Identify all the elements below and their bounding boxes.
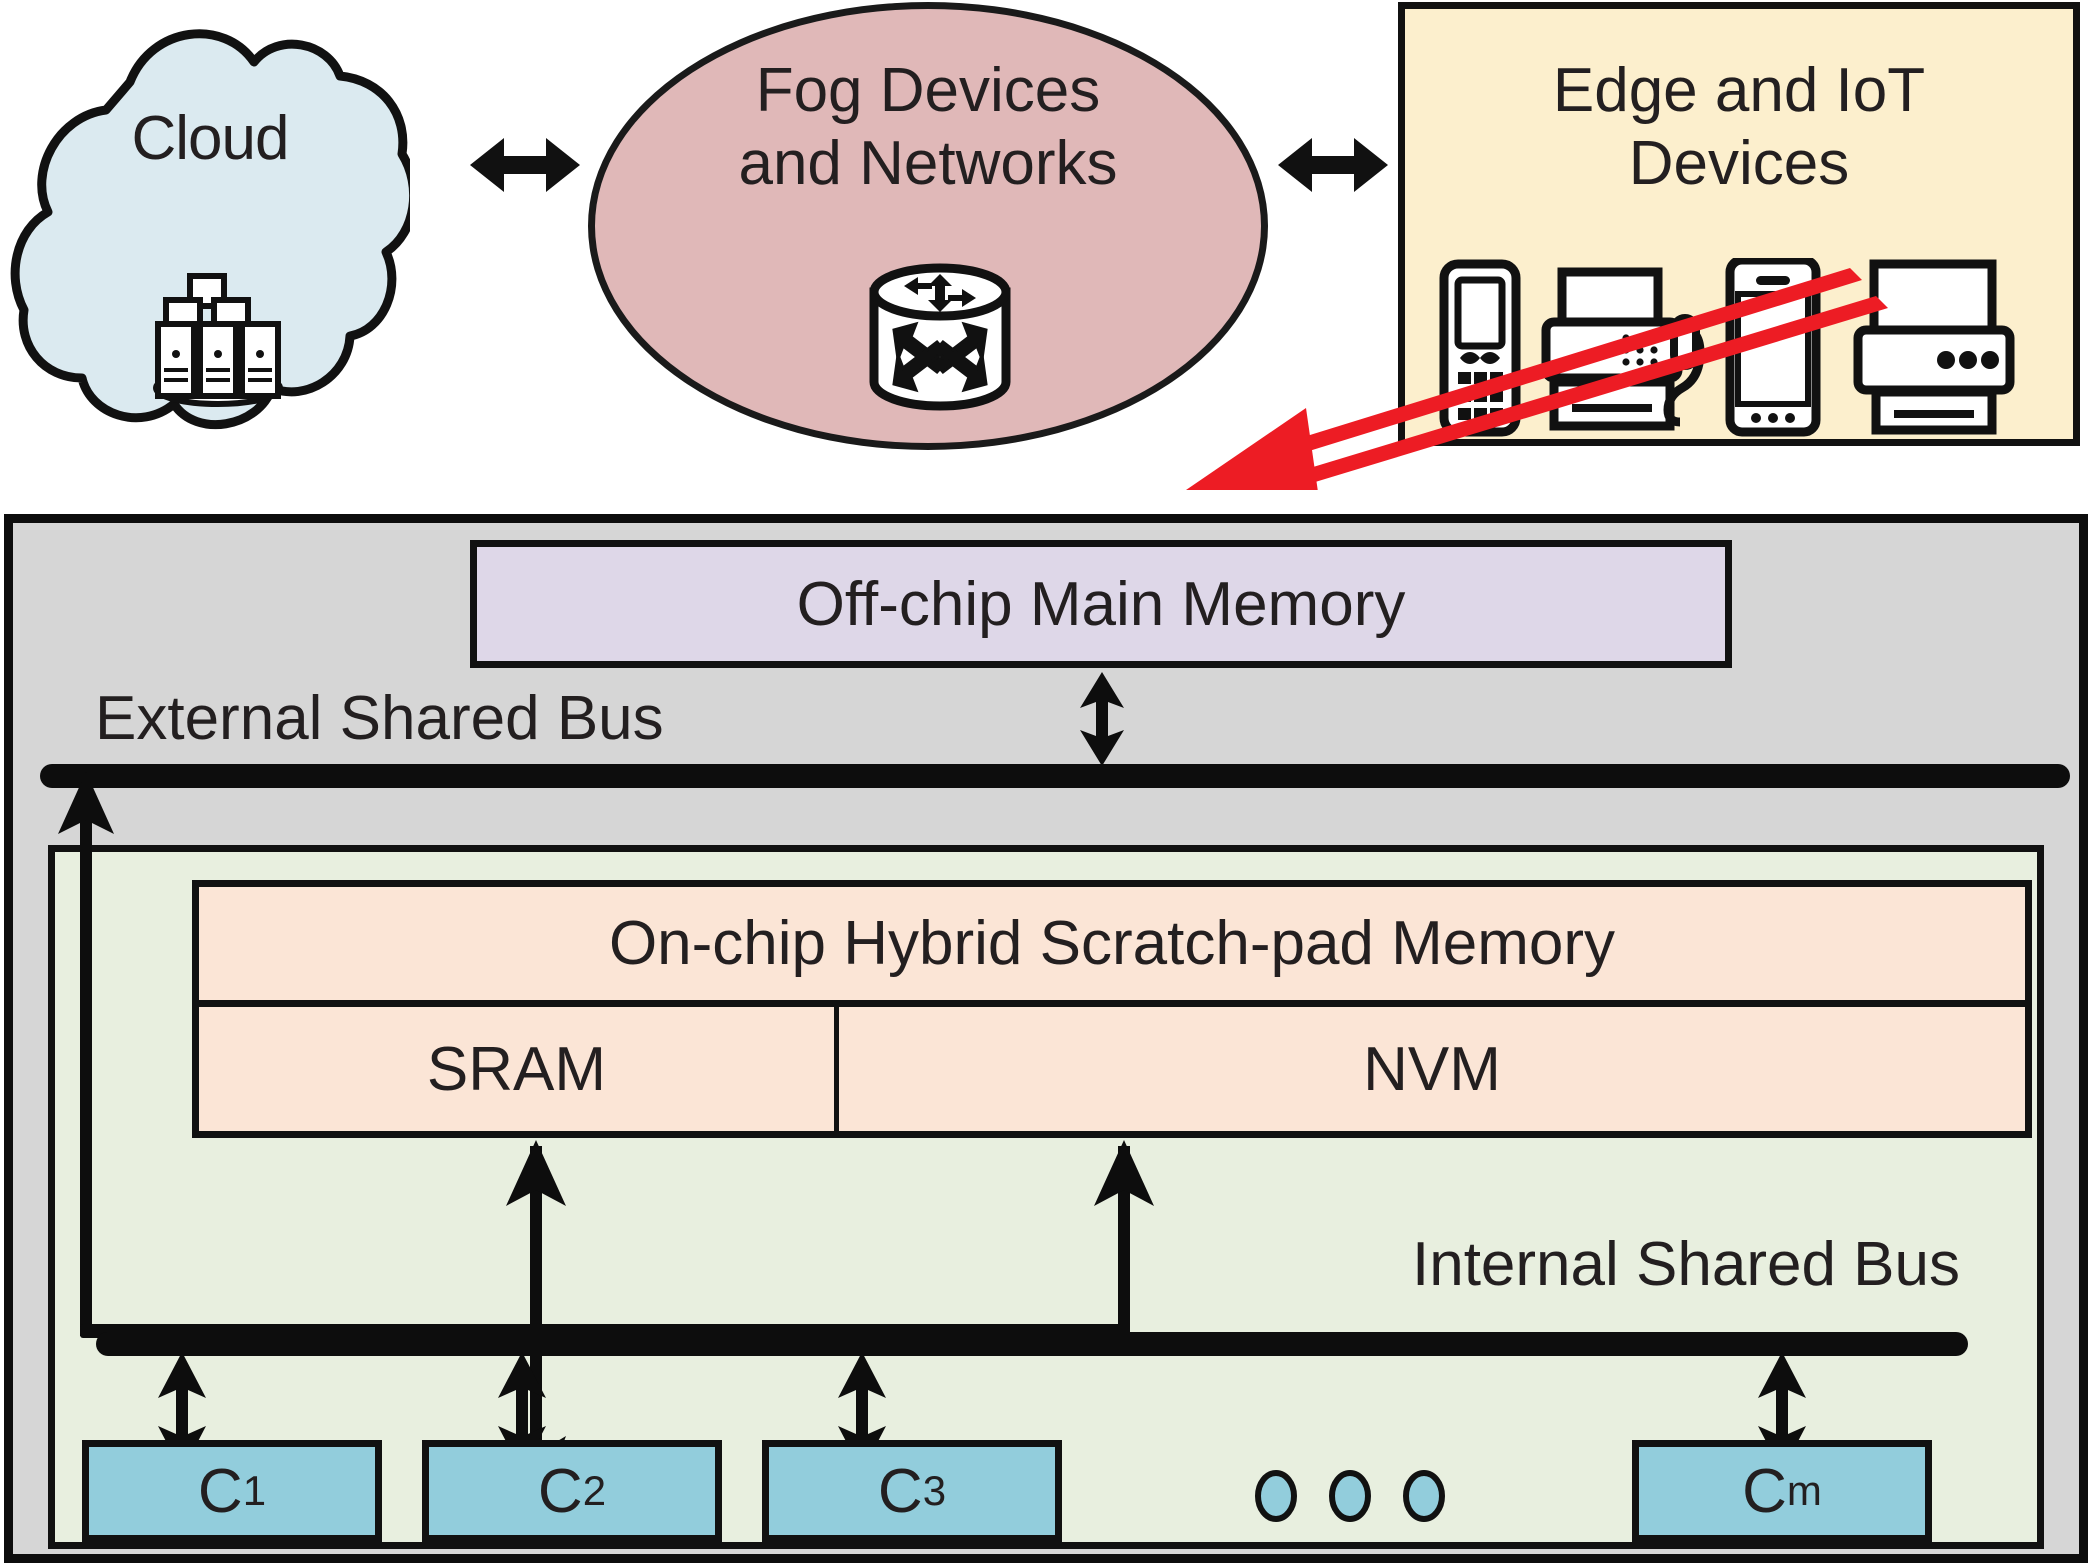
core-index: 3	[923, 1467, 946, 1515]
scratchpad-cells: SRAM NVM	[199, 1007, 2025, 1131]
double-headed-arrow-icon	[470, 130, 580, 200]
fax-machine-icon	[1546, 272, 1700, 426]
internal-shared-bus-bar	[96, 1332, 1968, 1356]
scratchpad-title: On-chip Hybrid Scratch-pad Memory	[199, 887, 2025, 1007]
core-index: m	[1787, 1467, 1822, 1515]
nvm-arrowhead-icon	[1088, 1140, 1160, 1220]
core-index: 2	[583, 1467, 606, 1515]
edge-iot-label: Edge and IoT Devices	[1398, 42, 2080, 212]
fog-label: Fog Devices and Networks	[588, 42, 1268, 212]
external-shared-bus-label: External Shared Bus	[95, 680, 895, 756]
edge-label-line1: Edge and IoT	[1553, 54, 1925, 127]
riser-arrowhead-icon	[52, 772, 120, 850]
printer-icon	[1858, 264, 2010, 430]
core-box-c1[interactable]: C1	[82, 1440, 382, 1542]
external-bus-riser-line	[80, 776, 92, 1336]
edge-label-line2: Devices	[1629, 127, 1850, 200]
external-shared-bus-bar	[40, 764, 2070, 788]
cloud-label: Cloud	[10, 98, 410, 178]
memory-to-external-bus-arrow-icon	[1074, 672, 1130, 766]
scratchpad-cell-nvm: NVM	[839, 1007, 2025, 1131]
core-label: C	[1742, 1456, 1787, 1527]
server-stack-icon	[138, 270, 298, 410]
onchip-hybrid-scratchpad-box: On-chip Hybrid Scratch-pad Memory SRAM N…	[192, 880, 2032, 1138]
core-box-cm[interactable]: Cm	[1632, 1440, 1932, 1542]
offchip-main-memory-box: Off-chip Main Memory	[470, 540, 1732, 668]
internal-shared-bus-label: Internal Shared Bus	[1160, 1226, 1960, 1302]
core-index: 1	[243, 1467, 266, 1515]
three-dots-icon	[1250, 1470, 1450, 1522]
fog-label-line1: Fog Devices	[756, 54, 1101, 127]
edge-device-icons	[1430, 258, 2050, 438]
core-label: C	[538, 1456, 583, 1527]
smartphone-icon	[1730, 260, 1816, 432]
feature-phone-icon	[1444, 264, 1516, 432]
network-router-icon	[860, 262, 1020, 412]
sram-arrowhead-icon	[500, 1140, 572, 1220]
scratchpad-cell-sram: SRAM	[199, 1007, 839, 1131]
fog-label-line2: and Networks	[738, 127, 1117, 200]
core-box-c2[interactable]: C2	[422, 1440, 722, 1542]
core-label: C	[878, 1456, 923, 1527]
core-box-c3[interactable]: C3	[762, 1440, 1062, 1542]
core-label: C	[198, 1456, 243, 1527]
double-headed-arrow-icon	[1278, 130, 1388, 200]
